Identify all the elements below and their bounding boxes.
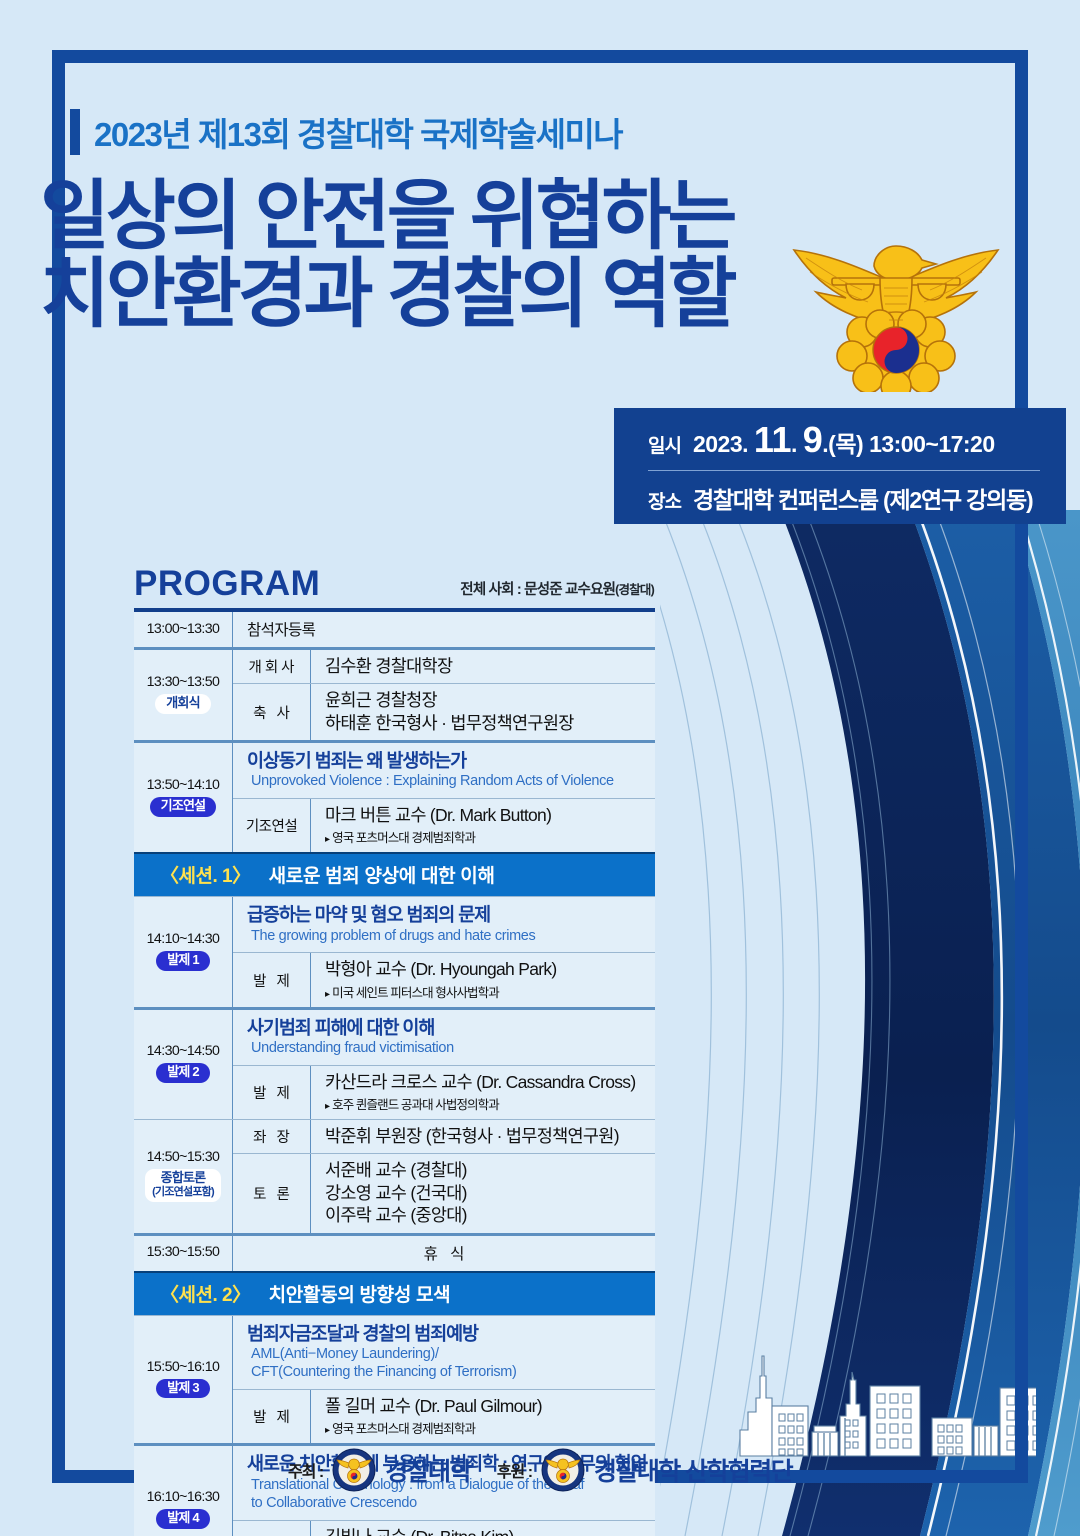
event-date-row: 일시 2023. 11. 9.(목) 13:00~17:20 xyxy=(648,424,1040,459)
row-body: 사기범죄 피해에 대한 이해 Understanding fraud victi… xyxy=(233,1010,655,1119)
person-name: 카산드라 크로스 교수 (Dr. Cassandra Cross) xyxy=(325,1071,655,1093)
person-name: 윤희근 경찰청장 xyxy=(325,689,655,711)
row-time-cell: 14:30~14:50 발제 2 xyxy=(134,1010,233,1119)
table-row: 14:30~14:50 발제 2 사기범죄 피해에 대한 이해 Understa… xyxy=(134,1007,655,1119)
topic-cell: 범죄자금조달과 경찰의 범죄예방 AML(Anti−Money Launderi… xyxy=(233,1316,655,1390)
session-header-bar: 〈세션. 2〉 치안활동의 방향성 모색 xyxy=(134,1271,655,1315)
role-cell: 축 사 xyxy=(233,684,311,740)
footer: 주최 : 경찰대학 후원 : xyxy=(0,1448,1080,1492)
status-badge: 발제 3 xyxy=(156,1379,210,1399)
info-divider xyxy=(648,470,1040,471)
role-cell: 발 제 xyxy=(233,1390,311,1443)
table-subrow: 발 제 카산드라 크로스 교수 (Dr. Cassandra Cross) 호주… xyxy=(233,1065,655,1119)
detail-cell: 박형아 교수 (Dr. Hyoungah Park) 미국 세인트 피터스대 형… xyxy=(311,953,655,1006)
row-time-cell: 13:50~14:10 기조연설 xyxy=(134,743,233,852)
date-sep: . xyxy=(791,431,797,457)
detail-cell: 김수환 경찰대학장 xyxy=(311,650,655,683)
venue-label: 장소 xyxy=(648,487,681,514)
table-row: 13:30~13:50 개회식 개회사 김수환 경찰대학장 축 사 윤희근 경찰… xyxy=(134,647,655,740)
topic-cell: 이상동기 범죄는 왜 발생하는가 Unprovoked Violence : E… xyxy=(233,743,655,798)
footer-host: 주최 : 경찰대학 xyxy=(288,1448,471,1492)
detail-cell: 김빛나 교수 (Dr. Bitna Kim) 미국 샘 휴스턴주립대 형사사법,… xyxy=(311,1521,655,1536)
topic-en: to Collaborative Crescendo xyxy=(247,1495,647,1513)
kicker-accent-bar xyxy=(70,109,80,155)
row-time-cell: 15:30~15:50 xyxy=(134,1236,233,1271)
person-affiliation: 미국 세인트 피터스대 형사사법학과 xyxy=(325,982,655,1001)
table-subrow: 토 론 서준배 교수 (경찰대) 강소영 교수 (건국대) 이주락 교수 (중앙… xyxy=(233,1153,655,1232)
time-text: 15:50~16:10 xyxy=(147,1359,220,1375)
topic-ko: 사기범죄 피해에 대한 이해 xyxy=(247,1017,647,1039)
topic-ko: 범죄자금조달과 경찰의 범죄예방 xyxy=(247,1323,647,1345)
person-name: 폴 길머 교수 (Dr. Paul Gilmour) xyxy=(325,1395,655,1417)
status-badge-main: 종합토론 xyxy=(161,1170,206,1185)
page-title: 일상의 안전을 위협하는 치안환경과 경찰의 역할 xyxy=(40,178,733,335)
police-university-seal-icon xyxy=(541,1448,585,1492)
detail-cell: 카산드라 크로스 교수 (Dr. Cassandra Cross) 호주 퀸즐랜… xyxy=(311,1066,655,1119)
police-university-seal-icon xyxy=(332,1448,376,1492)
row-plain-text: 휴 식 xyxy=(233,1236,655,1271)
program-table: 13:00~13:30 참석자등록 13:30~13:50 개회식 개회사 김수… xyxy=(134,608,655,1536)
date-label: 일시 xyxy=(648,431,681,458)
topic-en: CFT(Countering the Financing of Terroris… xyxy=(247,1364,647,1382)
event-info-box: 일시 2023. 11. 9.(목) 13:00~17:20 장소 경찰대학 컨… xyxy=(614,408,1066,524)
program-mc-label: 전체 사회 : 문성준 교수요원 xyxy=(460,582,615,598)
topic-en: Unprovoked Violence : Explaining Random … xyxy=(247,773,647,791)
time-text: 14:30~14:50 xyxy=(147,1043,220,1059)
table-row: 13:50~14:10 기조연설 이상동기 범죄는 왜 발생하는가 Unprov… xyxy=(134,740,655,852)
person-name: 박형아 교수 (Dr. Hyoungah Park) xyxy=(325,958,655,980)
person-name: 서준배 교수 (경찰대) xyxy=(325,1159,655,1181)
status-badge: 종합토론 (기조연설포함) xyxy=(145,1169,221,1202)
program-heading-row: PROGRAM 전체 사회 : 문성준 교수요원(경찰대) xyxy=(134,564,654,604)
korean-police-eagle-emblem-icon xyxy=(776,232,1016,392)
time-text: 13:00~13:30 xyxy=(147,621,220,637)
person-name: 마크 버튼 교수 (Dr. Mark Button) xyxy=(325,804,655,826)
row-time-cell: 14:50~15:30 종합토론 (기조연설포함) xyxy=(134,1120,233,1233)
time-text: 13:30~13:50 xyxy=(147,674,220,690)
role-cell: 토 론 xyxy=(233,1154,311,1232)
event-venue-row: 장소 경찰대학 컨퍼런스룸 (제2연구 강의동) xyxy=(648,481,1040,515)
role-cell: 발 제 xyxy=(233,953,311,1006)
role-cell: 기조연설 xyxy=(233,799,311,852)
status-badge: 개회식 xyxy=(155,694,210,714)
poster-root: 2023년 제13회 경찰대학 국제학술세미나 일상의 안전을 위협하는 치안환… xyxy=(0,0,1080,1536)
row-plain-text: 참석자등록 xyxy=(233,612,655,647)
date-time: 13:00~17:20 xyxy=(869,431,995,457)
topic-en: Understanding fraud victimisation xyxy=(247,1040,647,1058)
date-dayname: .(목) xyxy=(822,431,863,457)
status-badge-sub: (기조연설포함) xyxy=(152,1186,214,1199)
page-title-line1: 일상의 안전을 위협하는 xyxy=(40,174,733,259)
table-subrow: 발 제 김빛나 교수 (Dr. Bitna Kim) 미국 샘 휴스턴주립대 형… xyxy=(233,1520,655,1536)
header-kicker: 2023년 제13회 경찰대학 국제학술세미나 xyxy=(70,108,622,156)
row-body: 좌 장 박준휘 부원장 (한국형사 · 법무정책연구원) 토 론 서준배 교수 … xyxy=(233,1120,655,1233)
session-number: 〈세션. 1〉 xyxy=(160,861,251,888)
table-row: 14:10~14:30 발제 1 급증하는 마약 및 혐오 범죄의 문제 The… xyxy=(134,896,655,1006)
session-header-bar: 〈세션. 1〉 새로운 범죄 양상에 대한 이해 xyxy=(134,852,655,896)
row-body: 휴 식 xyxy=(233,1236,655,1271)
role-cell: 발 제 xyxy=(233,1521,311,1536)
role-cell: 발 제 xyxy=(233,1066,311,1119)
table-row: 13:00~13:30 참석자등록 xyxy=(134,612,655,647)
host-name: 경찰대학 xyxy=(385,1452,471,1488)
topic-cell: 급증하는 마약 및 혐오 범죄의 문제 The growing problem … xyxy=(233,897,655,952)
row-body: 이상동기 범죄는 왜 발생하는가 Unprovoked Violence : E… xyxy=(233,743,655,852)
table-subrow: 기조연설 마크 버튼 교수 (Dr. Mark Button) 영국 포츠머스대… xyxy=(233,798,655,852)
status-badge: 발제 2 xyxy=(156,1063,210,1083)
person-affiliation: 호주 퀸즐랜드 공과대 사법정의학과 xyxy=(325,1094,655,1113)
footer-sponsor: 후원 : 경찰대학 산학협력단 xyxy=(497,1448,792,1492)
row-time-cell: 15:50~16:10 발제 3 xyxy=(134,1316,233,1444)
sponsor-name: 경찰대학 산학협력단 xyxy=(594,1452,792,1488)
detail-cell: 박준휘 부원장 (한국형사 · 법무정책연구원) xyxy=(311,1120,655,1153)
status-badge: 발제 4 xyxy=(156,1509,210,1529)
session-title: 치안활동의 방향성 모색 xyxy=(269,1280,451,1307)
table-row: 15:50~16:10 발제 3 범죄자금조달과 경찰의 범죄예방 AML(An… xyxy=(134,1315,655,1444)
row-body: 범죄자금조달과 경찰의 범죄예방 AML(Anti−Money Launderi… xyxy=(233,1316,655,1444)
topic-en: AML(Anti−Money Laundering)/ xyxy=(247,1346,647,1364)
program-mc: 전체 사회 : 문성준 교수요원(경찰대) xyxy=(460,578,654,604)
date-value: 2023. 11. 9.(목) 13:00~17:20 xyxy=(693,424,995,459)
person-name: 김빛나 교수 (Dr. Bitna Kim) xyxy=(325,1526,655,1536)
status-badge: 기조연설 xyxy=(150,797,217,817)
row-time-cell: 13:00~13:30 xyxy=(134,612,233,647)
detail-cell: 마크 버튼 교수 (Dr. Mark Button) 영국 포츠머스대 경제범죄… xyxy=(311,799,655,852)
topic-ko: 급증하는 마약 및 혐오 범죄의 문제 xyxy=(247,904,647,926)
program-mc-org: (경찰대) xyxy=(615,583,654,597)
table-row: 14:50~15:30 종합토론 (기조연설포함) 좌 장 박준휘 부원장 (한… xyxy=(134,1119,655,1233)
topic-en: The growing problem of drugs and hate cr… xyxy=(247,928,647,946)
person-name: 강소영 교수 (건국대) xyxy=(325,1182,655,1204)
topic-cell: 사기범죄 피해에 대한 이해 Understanding fraud victi… xyxy=(233,1010,655,1065)
host-label: 주최 : xyxy=(288,1458,323,1482)
table-subrow: 발 제 폴 길머 교수 (Dr. Paul Gilmour) 영국 포츠머스대 … xyxy=(233,1389,655,1443)
kicker-text: 2023년 제13회 경찰대학 국제학술세미나 xyxy=(94,108,622,156)
status-badge: 발제 1 xyxy=(156,951,210,971)
time-text: 15:30~15:50 xyxy=(147,1244,220,1260)
date-month: 11 xyxy=(754,419,791,460)
sponsor-label: 후원 : xyxy=(497,1458,532,1482)
detail-cell: 폴 길머 교수 (Dr. Paul Gilmour) 영국 포츠머스대 경제범죄… xyxy=(311,1390,655,1443)
person-name: 김수환 경찰대학장 xyxy=(325,655,655,677)
time-text: 14:50~15:30 xyxy=(147,1149,220,1165)
detail-cell: 윤희근 경찰청장 하태훈 한국형사 · 법무정책연구원장 xyxy=(311,684,655,740)
person-name: 하태훈 한국형사 · 법무정책연구원장 xyxy=(325,712,655,734)
row-time-cell: 13:30~13:50 개회식 xyxy=(134,650,233,740)
role-cell: 좌 장 xyxy=(233,1120,311,1153)
venue-value: 경찰대학 컨퍼런스룸 (제2연구 강의동) xyxy=(693,481,1032,515)
person-affiliation: 영국 포츠머스대 경제범죄학과 xyxy=(325,827,655,846)
row-body: 개회사 김수환 경찰대학장 축 사 윤희근 경찰청장 하태훈 한국형사 · 법무… xyxy=(233,650,655,740)
detail-cell: 서준배 교수 (경찰대) 강소영 교수 (건국대) 이주락 교수 (중앙대) xyxy=(311,1154,655,1232)
table-subrow: 발 제 박형아 교수 (Dr. Hyoungah Park) 미국 세인트 피터… xyxy=(233,952,655,1006)
row-time-cell: 14:10~14:30 발제 1 xyxy=(134,897,233,1006)
person-name: 이주락 교수 (중앙대) xyxy=(325,1204,655,1226)
time-text: 13:50~14:10 xyxy=(147,777,220,793)
session-title: 새로운 범죄 양상에 대한 이해 xyxy=(269,861,495,888)
date-day: 9 xyxy=(803,419,823,460)
table-row: 15:30~15:50 휴 식 xyxy=(134,1233,655,1271)
role-cell: 개회사 xyxy=(233,650,311,683)
table-subrow: 축 사 윤희근 경찰청장 하태훈 한국형사 · 법무정책연구원장 xyxy=(233,683,655,740)
person-affiliation: 영국 포츠머스대 경제범죄학과 xyxy=(325,1418,655,1437)
time-text: 14:10~14:30 xyxy=(147,931,220,947)
table-subrow: 개회사 김수환 경찰대학장 xyxy=(233,650,655,683)
session-number: 〈세션. 2〉 xyxy=(160,1280,251,1307)
date-year: 2023. xyxy=(693,431,748,457)
row-body: 급증하는 마약 및 혐오 범죄의 문제 The growing problem … xyxy=(233,897,655,1006)
topic-ko: 이상동기 범죄는 왜 발생하는가 xyxy=(247,750,647,772)
table-subrow: 좌 장 박준휘 부원장 (한국형사 · 법무정책연구원) xyxy=(233,1120,655,1153)
row-body: 참석자등록 xyxy=(233,612,655,647)
program-heading: PROGRAM xyxy=(134,564,320,604)
person-name: 박준휘 부원장 (한국형사 · 법무정책연구원) xyxy=(325,1125,655,1147)
page-title-line2: 치안환경과 경찰의 역할 xyxy=(40,256,733,334)
